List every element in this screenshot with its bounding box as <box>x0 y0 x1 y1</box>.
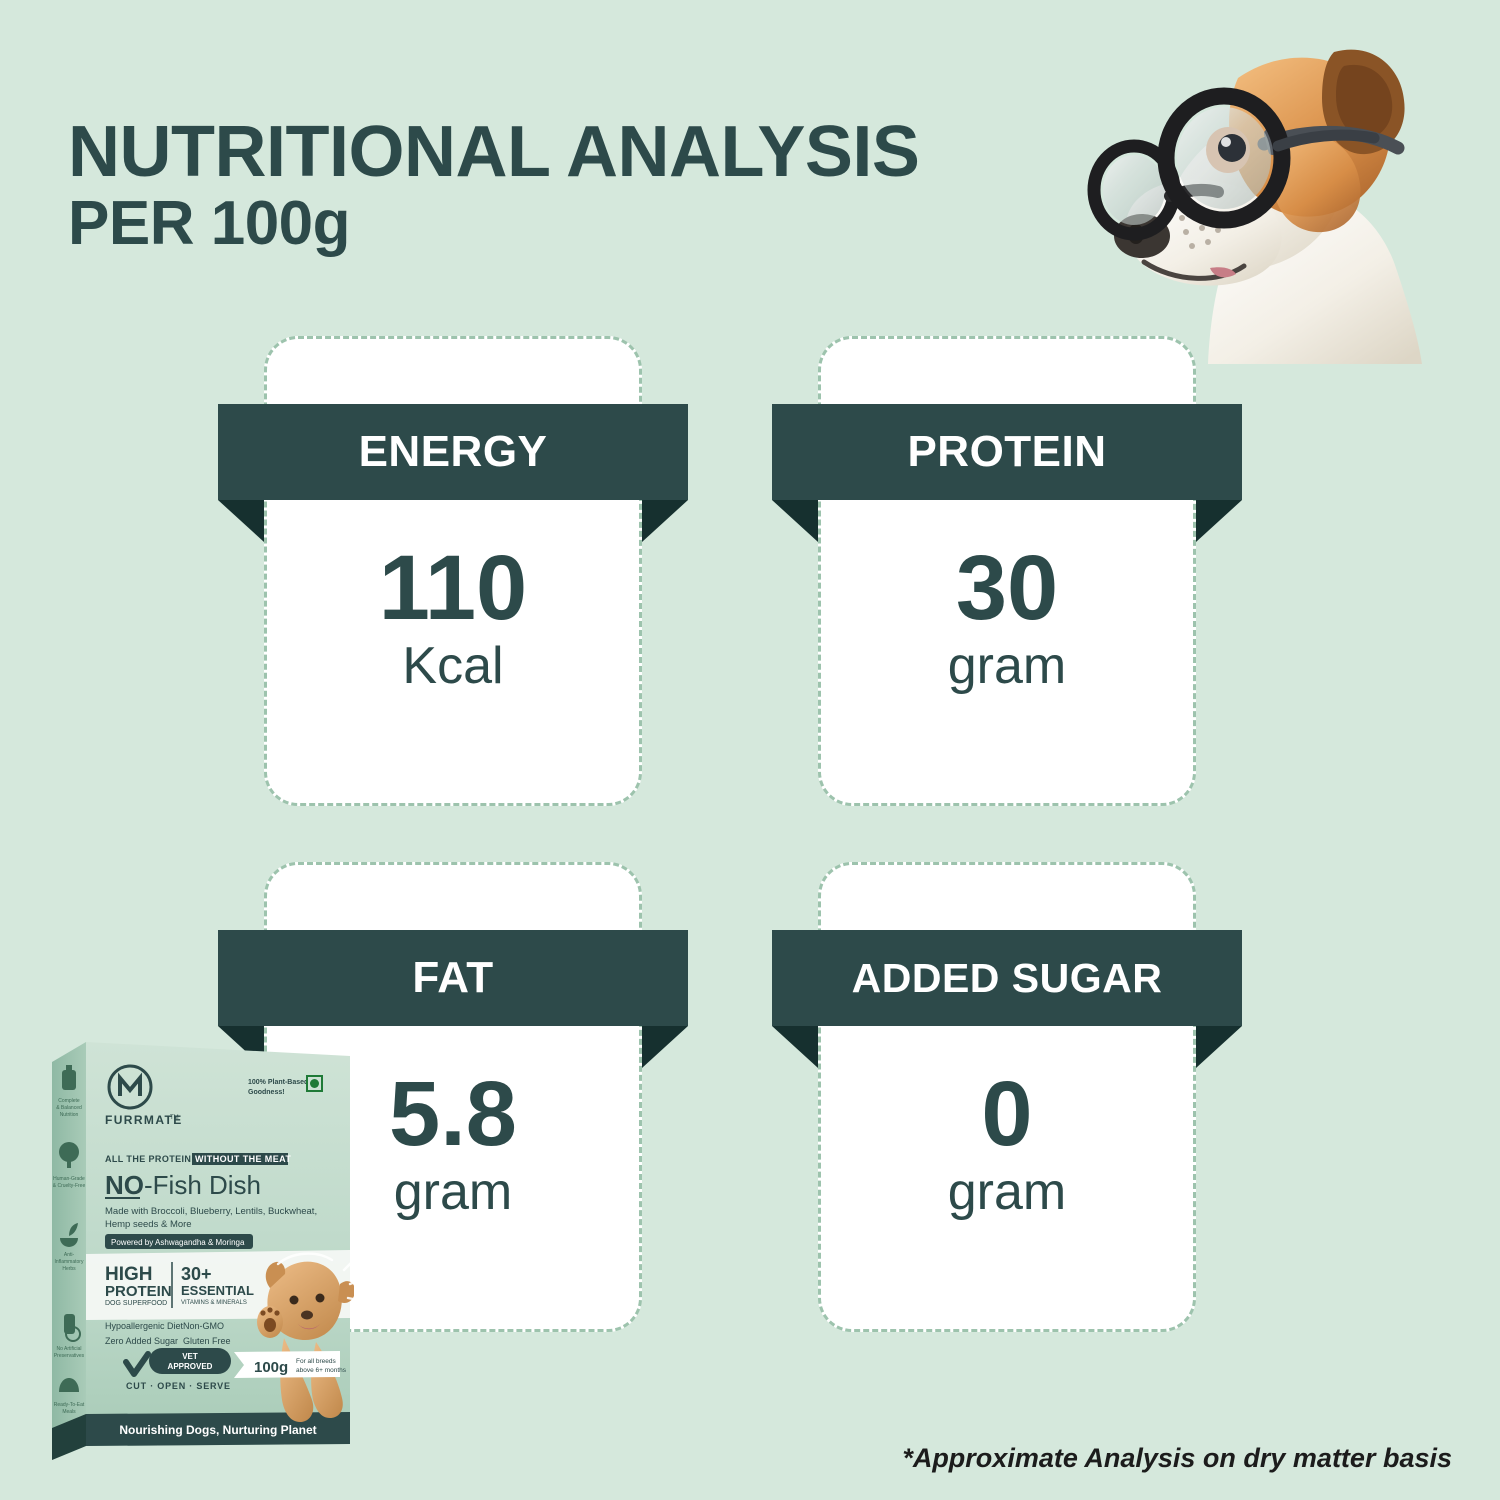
glasses-near-lens <box>1166 96 1282 220</box>
nutrient-label: FAT <box>412 953 493 1003</box>
feature-label-4: No Artificial <box>56 1346 81 1352</box>
svg-text:& Cruelty-Free: & Cruelty-Free <box>53 1183 86 1189</box>
package-tagline: ALL THE PROTEIN WITHOUT THE MEAT <box>105 1153 291 1165</box>
essential-line-1: 30+ <box>181 1264 212 1284</box>
feature-label-5: Ready-To-Eat <box>54 1402 85 1408</box>
plant-based-line-2: Goodness! <box>248 1089 285 1096</box>
nutrient-label: ADDED SUGAR <box>852 955 1163 1002</box>
claim-4: Gluten Free <box>183 1336 231 1346</box>
essential-line-2: ESSENTIAL <box>181 1283 254 1298</box>
plant-based-line-1: 100% Plant-Based <box>248 1079 308 1086</box>
ribbon-fold-right <box>642 1026 688 1068</box>
ingredients-line-1: Made with Broccoli, Blueberry, Lentils, … <box>105 1206 317 1217</box>
nutrient-value: 110 <box>264 542 642 634</box>
nutrient-unit: gram <box>818 1160 1196 1225</box>
breeds-line-1: For all breeds <box>296 1358 336 1365</box>
bottom-tagline: Nourishing Dogs, Nurturing Planet <box>119 1423 316 1437</box>
essential-line-3: VITAMINS & MINERALS <box>181 1300 247 1306</box>
high-protein-line-3: DOG SUPERFOOD <box>105 1300 167 1307</box>
claim-1: Hypoallergenic Diet <box>105 1321 184 1331</box>
claim-2: Zero Added Sugar <box>105 1336 178 1346</box>
serve-instructions: CUT · OPEN · SERVE <box>126 1381 231 1391</box>
nutrient-card-protein: PROTEIN 30 gram <box>818 336 1196 806</box>
product-name: NO-Fish Dish <box>105 1170 261 1200</box>
svg-text:VET: VET <box>182 1352 198 1361</box>
high-protein-line-1: HIGH <box>105 1264 153 1285</box>
breeds-line-2: above 6+ months <box>296 1367 347 1374</box>
nutrient-value: 0 <box>818 1068 1196 1160</box>
nutrient-card-energy: ENERGY 110 Kcal <box>264 336 642 806</box>
dog-with-glasses-photo <box>1078 18 1500 364</box>
ribbon-banner: ADDED SUGAR <box>772 930 1242 1026</box>
powered-by-label: Powered by Ashwagandha & Moringa <box>111 1238 245 1247</box>
ribbon-fold-right <box>1196 500 1242 542</box>
svg-text:Herbs: Herbs <box>62 1266 76 1272</box>
dog-pupil <box>1218 134 1246 162</box>
svg-text:Meals: Meals <box>62 1409 76 1415</box>
svg-text:APPROVED: APPROVED <box>168 1362 213 1371</box>
feature-label-3: Anti- <box>64 1252 75 1258</box>
nutrient-value-block: 0 gram <box>818 1068 1196 1225</box>
nutrient-value-block: 30 gram <box>818 542 1196 699</box>
high-protein-line-2: PROTEIN <box>105 1283 172 1300</box>
ribbon-fold-left <box>772 1026 818 1068</box>
svg-text:ALL THE PROTEIN: ALL THE PROTEIN <box>105 1154 191 1164</box>
feature-label-1: Complete <box>58 1098 80 1104</box>
nutrient-label: PROTEIN <box>907 427 1106 477</box>
footnote-text: *Approximate Analysis on dry matter basi… <box>902 1443 1452 1474</box>
ribbon-banner: FAT <box>218 930 688 1026</box>
ribbon-fold-left <box>218 500 264 542</box>
svg-text:Preservatives: Preservatives <box>54 1353 85 1359</box>
svg-text:Nutrition: Nutrition <box>60 1112 79 1118</box>
puppy-paw <box>257 1306 283 1338</box>
nutrient-unit: Kcal <box>264 634 642 699</box>
svg-text:& Balanced: & Balanced <box>56 1105 82 1111</box>
nutrient-card-added-sugar: ADDED SUGAR 0 gram <box>818 862 1196 1332</box>
eye-highlight <box>1221 137 1231 147</box>
brand-trademark: TM <box>170 1115 179 1121</box>
nutrient-value: 30 <box>818 542 1196 634</box>
ribbon-banner: PROTEIN <box>772 404 1242 500</box>
ribbon-fold-left <box>772 500 818 542</box>
ribbon-fold-right <box>1196 1026 1242 1068</box>
weight-label: 100g <box>254 1359 288 1376</box>
nutrient-value-block: 110 Kcal <box>264 542 642 699</box>
product-package-image: Complete & Balanced Nutrition Human-Grad… <box>48 1032 354 1474</box>
claim-3: Non-GMO <box>183 1321 224 1331</box>
svg-text:WITHOUT THE MEAT: WITHOUT THE MEAT <box>195 1154 291 1164</box>
svg-text:Inflammatory: Inflammatory <box>55 1259 84 1265</box>
feature-label-2: Human-Grade <box>53 1176 85 1182</box>
ingredients-line-2: Hemp seeds & More <box>105 1219 192 1230</box>
ribbon-fold-right <box>642 500 688 542</box>
ribbon-banner: ENERGY <box>218 404 688 500</box>
nutrient-label: ENERGY <box>359 427 548 477</box>
nutrient-unit: gram <box>818 634 1196 699</box>
